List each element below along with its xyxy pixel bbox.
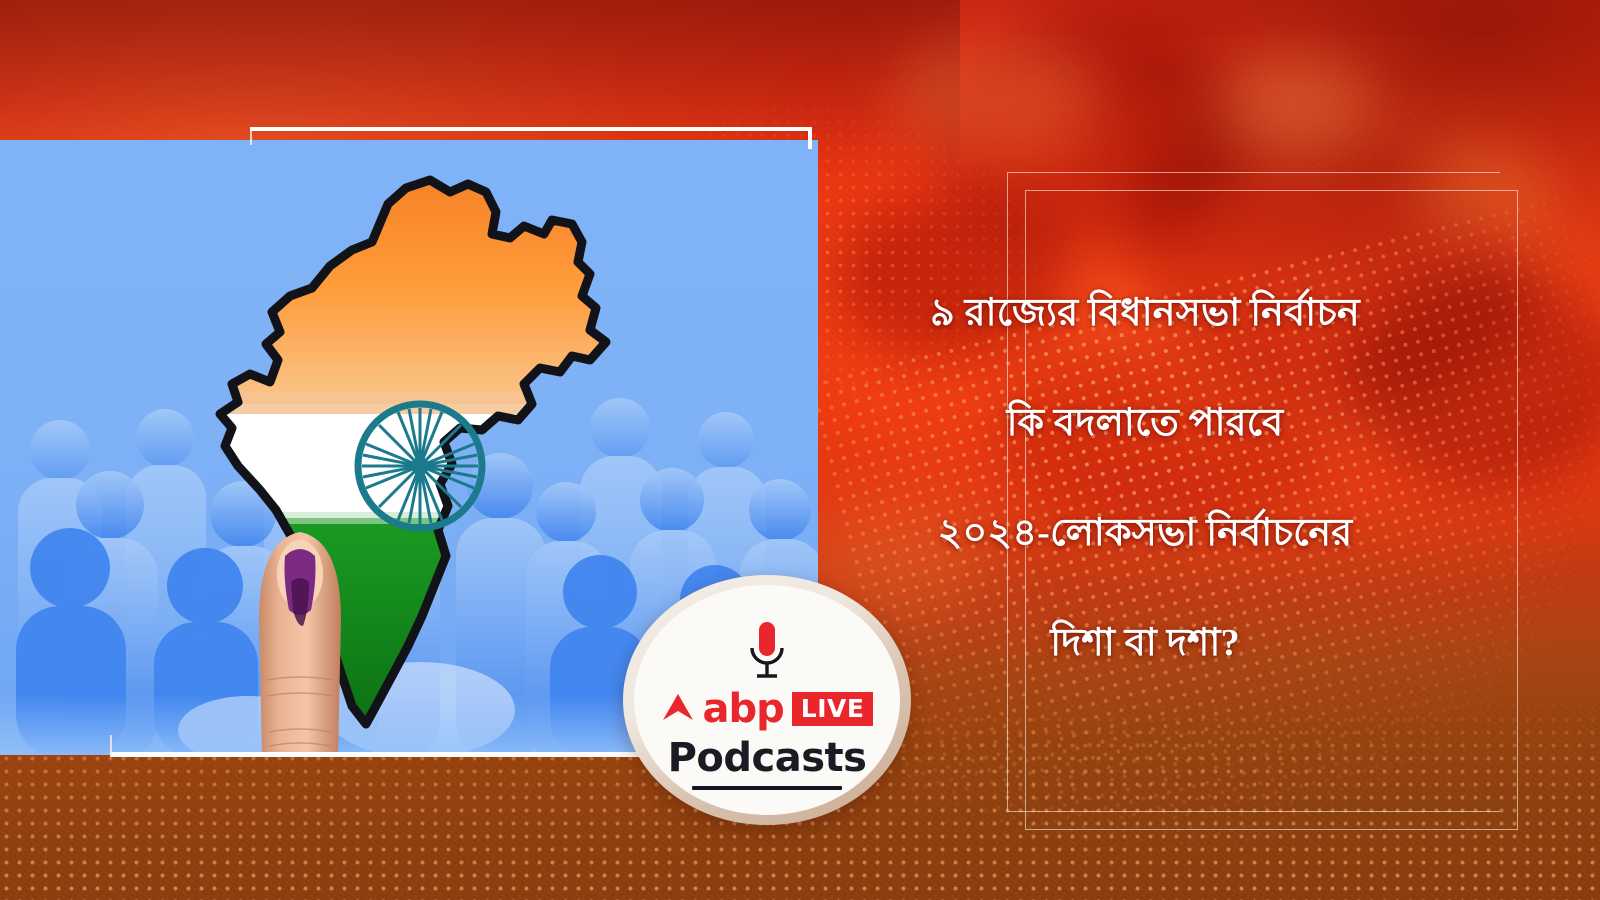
badge-face: abp LIVE Podcasts: [634, 585, 900, 815]
podcasts-underline: [692, 786, 842, 790]
headline-line-2: কি বদলাতে পারবে: [845, 368, 1445, 478]
abp-live-lockup: abp LIVE: [661, 689, 874, 729]
headline-line-1: ৯ রাজ্যের বিধানসভা নির্বাচন: [845, 258, 1445, 368]
headline-line-4: দিশা বা দশা?: [845, 588, 1445, 698]
microphone-svg: [744, 620, 790, 682]
abp-brand-word: abp: [703, 689, 784, 729]
photo-frame-line-top: [250, 127, 812, 131]
podcast-thumbnail-canvas: ৯ রাজ্যের বিধানসভা নির্বাচন কি বদলাতে পা…: [0, 0, 1600, 900]
india-map-svg: [120, 146, 660, 746]
abp-arrow-svg: [661, 690, 695, 724]
live-badge: LIVE: [792, 692, 874, 726]
abp-live-podcasts-badge: abp LIVE Podcasts: [623, 575, 911, 825]
headline-line-3: ২০২৪-লোকসভা নির্বাচনের: [845, 478, 1445, 588]
photo-frame-corner-top-right: [808, 127, 812, 149]
photo-frame-corner-bottom-left: [110, 735, 112, 757]
india-map-icon: [120, 146, 660, 746]
photo-frame-corner-top-left: [250, 127, 252, 145]
microphone-icon: [744, 620, 790, 687]
inked-finger-svg: [245, 470, 355, 755]
podcasts-label: Podcasts: [668, 738, 867, 778]
inked-finger-icon: [245, 470, 355, 755]
headline-block: ৯ রাজ্যের বিধানসভা নির্বাচন কি বদলাতে পা…: [845, 258, 1445, 698]
abp-arrow-icon: [661, 690, 695, 729]
ashoka-chakra-icon: [358, 404, 482, 528]
